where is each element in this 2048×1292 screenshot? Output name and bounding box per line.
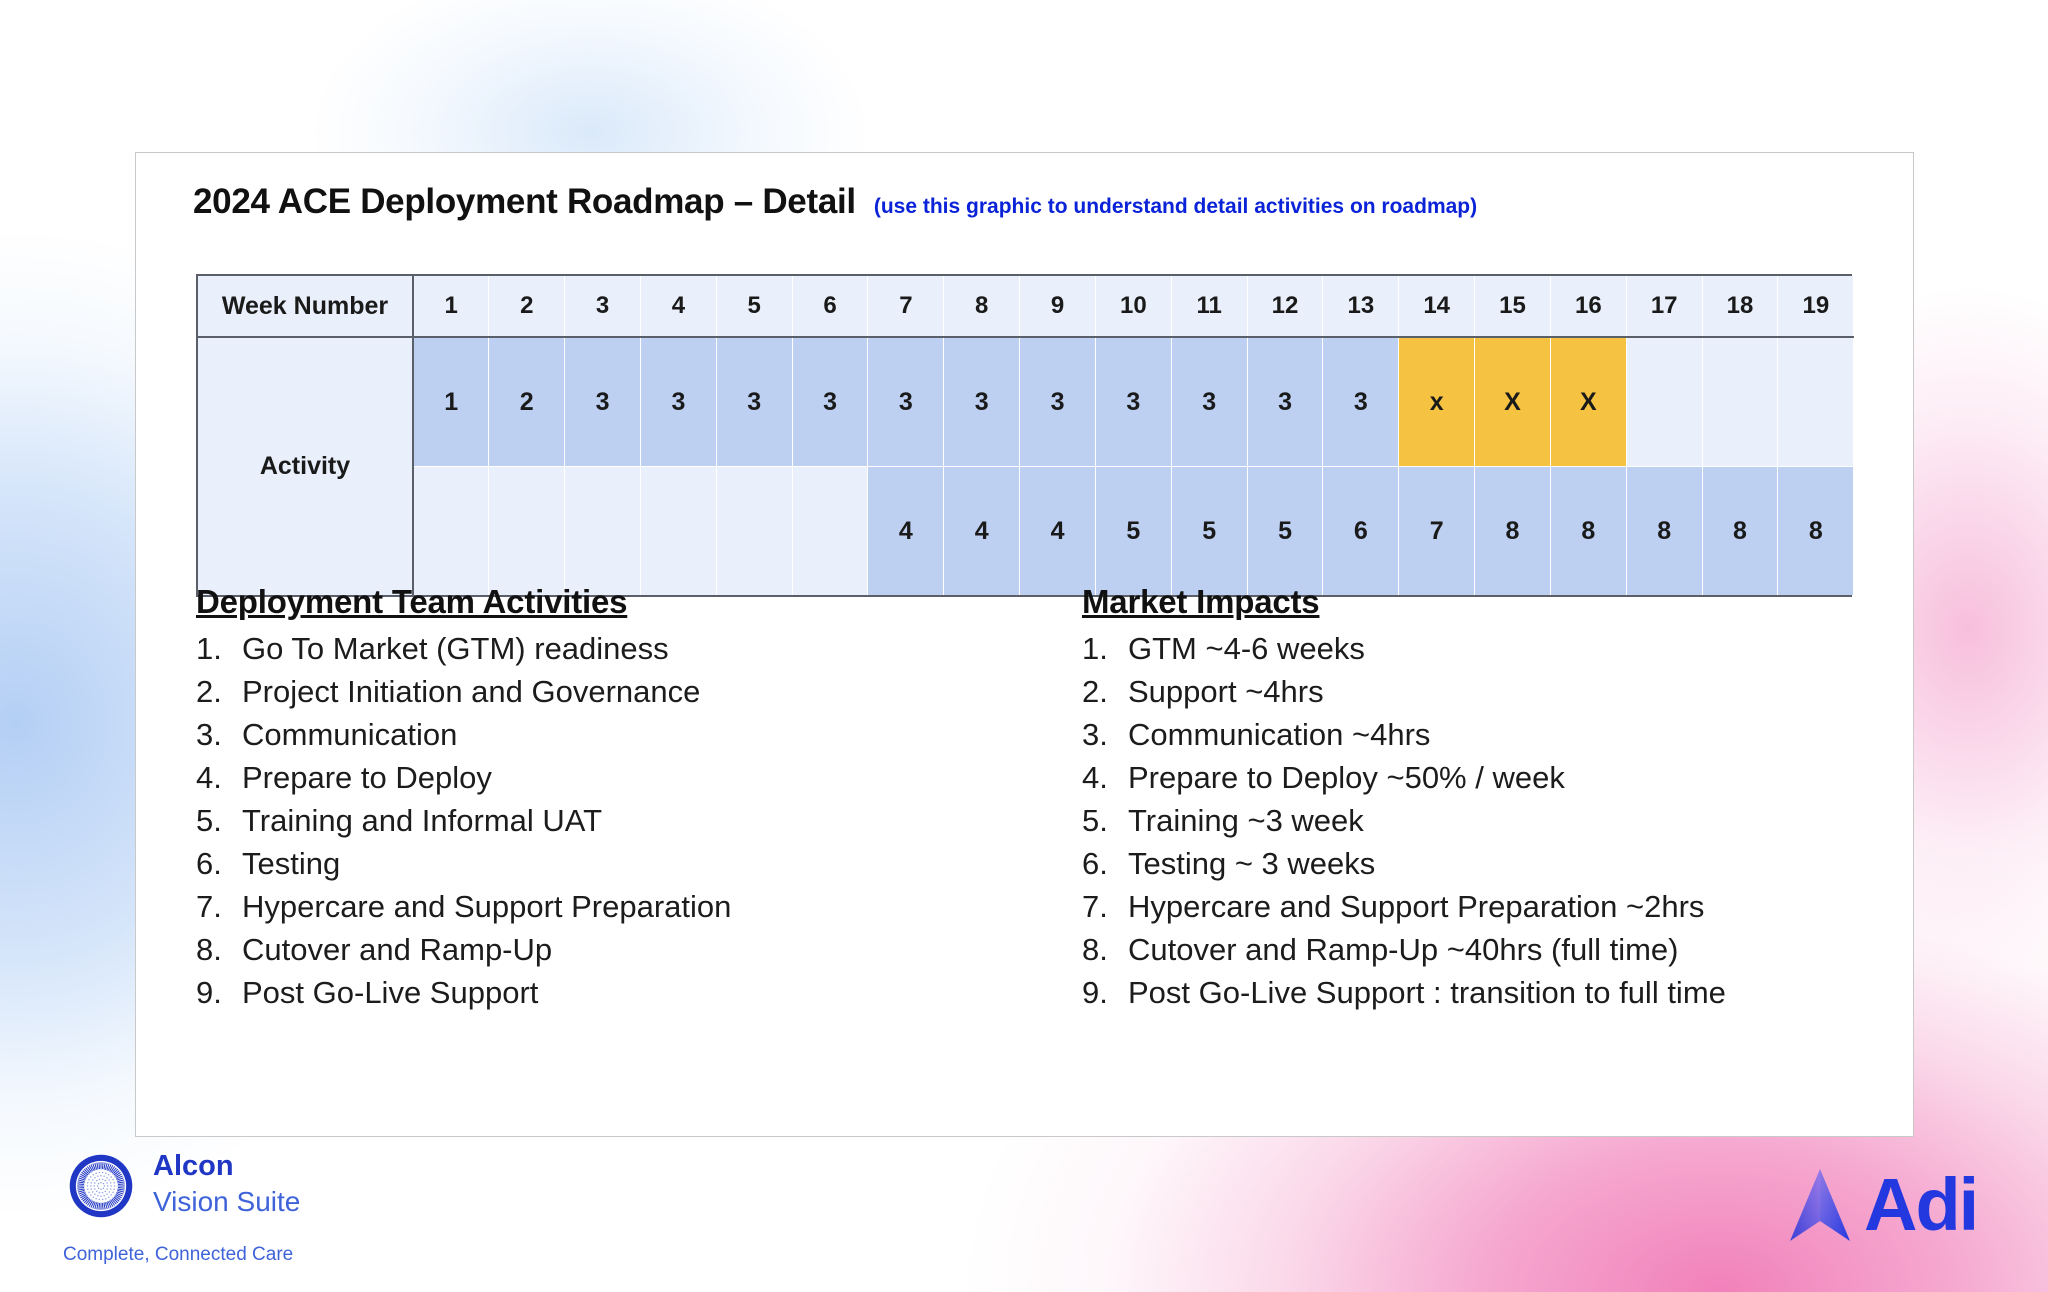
week-activity-table: Week Number 1234567891011121314151617181… <box>198 276 1854 595</box>
week-header-cell: 17 <box>1626 276 1702 337</box>
activity-cell: 3 <box>1171 337 1247 467</box>
week-number-label: Week Number <box>198 276 413 337</box>
market-impacts-item: 2.Support ~4hrs <box>1082 670 1876 713</box>
market-impacts-item-label: Training ~3 week <box>1128 799 1364 842</box>
market-impacts-item: 5.Training ~3 week <box>1082 799 1876 842</box>
activity-cell: 5 <box>1247 467 1323 596</box>
activity-cell <box>489 467 565 596</box>
activity-cell: 3 <box>1323 337 1399 467</box>
market-impacts-item-number: 2. <box>1082 670 1128 713</box>
deployment-team-item-label: Cutover and Ramp-Up <box>242 928 552 971</box>
deployment-team-item-label: Project Initiation and Governance <box>242 670 700 713</box>
deployment-team-column: Deployment Team Activities 1.Go To Marke… <box>196 583 1036 1014</box>
activity-cell: 8 <box>1626 467 1702 596</box>
market-impacts-item: 6.Testing ~ 3 weeks <box>1082 842 1876 885</box>
activity-cell: 3 <box>1247 337 1323 467</box>
activity-cell: 4 <box>944 467 1020 596</box>
activity-cell: x <box>1399 337 1475 467</box>
market-impacts-item-number: 4. <box>1082 756 1128 799</box>
deployment-team-item: 9.Post Go-Live Support <box>196 971 1036 1014</box>
week-header-cell: 16 <box>1550 276 1626 337</box>
activity-cell: 8 <box>1702 467 1778 596</box>
deployment-team-item-number: 2. <box>196 670 242 713</box>
deployment-team-item-number: 4. <box>196 756 242 799</box>
market-impacts-item-number: 7. <box>1082 885 1128 928</box>
market-impacts-item: 1.GTM ~4-6 weeks <box>1082 627 1876 670</box>
adi-wordmark: Adi <box>1864 1168 1977 1242</box>
activity-cell: 8 <box>1550 467 1626 596</box>
week-header-cell: 2 <box>489 276 565 337</box>
deployment-team-item: 7.Hypercare and Support Preparation <box>196 885 1036 928</box>
market-impacts-item-number: 9. <box>1082 971 1128 1014</box>
deployment-team-item: 8.Cutover and Ramp-Up <box>196 928 1036 971</box>
market-impacts-item: 4.Prepare to Deploy ~50% / week <box>1082 756 1876 799</box>
market-impacts-column: Market Impacts 1.GTM ~4-6 weeks2.Support… <box>1036 583 1876 1014</box>
activity-cell: X <box>1475 337 1551 467</box>
activity-cell: 7 <box>1399 467 1475 596</box>
activity-cell: 1 <box>413 337 489 467</box>
deployment-team-item-label: Testing <box>242 842 340 885</box>
deployment-team-item: 6.Testing <box>196 842 1036 885</box>
activity-cell <box>1778 337 1854 467</box>
market-impacts-item-label: Support ~4hrs <box>1128 670 1324 713</box>
week-header-cell: 1 <box>413 276 489 337</box>
activity-cell <box>413 467 489 596</box>
activity-cell: 4 <box>868 467 944 596</box>
market-impacts-item-number: 3. <box>1082 713 1128 756</box>
market-impacts-item-label: Prepare to Deploy ~50% / week <box>1128 756 1565 799</box>
activity-label: Activity <box>198 337 413 595</box>
title-row: 2024 ACE Deployment Roadmap – Detail (us… <box>193 182 1477 222</box>
market-impacts-list: 1.GTM ~4-6 weeks2.Support ~4hrs3.Communi… <box>1082 627 1876 1014</box>
market-impacts-item-number: 8. <box>1082 928 1128 971</box>
activity-row-2: 4445556788888 <box>198 467 1854 596</box>
activity-cell: 8 <box>1778 467 1854 596</box>
deployment-team-item-number: 7. <box>196 885 242 928</box>
week-header-cell: 8 <box>944 276 1020 337</box>
market-impacts-item-label: Testing ~ 3 weeks <box>1128 842 1375 885</box>
activity-cell <box>716 467 792 596</box>
deployment-team-item-number: 1. <box>196 627 242 670</box>
roadmap-table: Week Number 1234567891011121314151617181… <box>196 274 1852 597</box>
week-header-cell: 3 <box>565 276 641 337</box>
deployment-team-item-number: 6. <box>196 842 242 885</box>
deployment-team-item-label: Prepare to Deploy <box>242 756 492 799</box>
deployment-team-item: 3.Communication <box>196 713 1036 756</box>
market-impacts-item-number: 1. <box>1082 627 1128 670</box>
page-title: 2024 ACE Deployment Roadmap – Detail <box>193 182 856 222</box>
deployment-team-item-number: 9. <box>196 971 242 1014</box>
activity-cell: 5 <box>1095 467 1171 596</box>
market-impacts-heading: Market Impacts <box>1082 583 1876 621</box>
week-header-cell: 19 <box>1778 276 1854 337</box>
activity-cell: 6 <box>1323 467 1399 596</box>
lists-section: Deployment Team Activities 1.Go To Marke… <box>196 583 1876 1014</box>
alcon-wordmark: Alcon Vision Suite <box>153 1148 300 1220</box>
activity-cell: X <box>1550 337 1626 467</box>
alcon-logo: Alcon Vision Suite Complete, Connected C… <box>63 1148 383 1278</box>
activity-cell: 3 <box>868 337 944 467</box>
activity-cell <box>792 467 868 596</box>
activity-cell: 3 <box>792 337 868 467</box>
deployment-team-item: 4.Prepare to Deploy <box>196 756 1036 799</box>
alcon-name: Alcon <box>153 1148 300 1184</box>
slide-card: 2024 ACE Deployment Roadmap – Detail (us… <box>135 152 1914 1137</box>
market-impacts-item-label: GTM ~4-6 weeks <box>1128 627 1365 670</box>
market-impacts-item: 9.Post Go-Live Support : transition to f… <box>1082 971 1876 1014</box>
week-header-cell: 4 <box>640 276 716 337</box>
week-header-cell: 15 <box>1475 276 1551 337</box>
deployment-team-item: 2.Project Initiation and Governance <box>196 670 1036 713</box>
activity-cell: 2 <box>489 337 565 467</box>
deployment-team-item: 1.Go To Market (GTM) readiness <box>196 627 1036 670</box>
deployment-team-item: 5.Training and Informal UAT <box>196 799 1036 842</box>
activity-cell: 3 <box>944 337 1020 467</box>
deployment-team-item-label: Hypercare and Support Preparation <box>242 885 731 928</box>
deployment-team-item-number: 3. <box>196 713 242 756</box>
alcon-tagline: Complete, Connected Care <box>63 1244 293 1266</box>
market-impacts-item-label: Cutover and Ramp-Up ~40hrs (full time) <box>1128 928 1678 971</box>
title-note: (use this graphic to understand detail a… <box>874 195 1477 219</box>
week-header-cell: 6 <box>792 276 868 337</box>
week-header-cell: 12 <box>1247 276 1323 337</box>
deployment-team-heading: Deployment Team Activities <box>196 583 1036 621</box>
market-impacts-item: 7.Hypercare and Support Preparation ~2hr… <box>1082 885 1876 928</box>
adi-logo: Adi <box>1782 1157 2012 1253</box>
week-header-cell: 7 <box>868 276 944 337</box>
adi-chevron-icon <box>1782 1163 1858 1247</box>
activity-cell <box>1626 337 1702 467</box>
week-header-cell: 10 <box>1095 276 1171 337</box>
activity-cell: 4 <box>1020 467 1096 596</box>
market-impacts-item: 3.Communication ~4hrs <box>1082 713 1876 756</box>
market-impacts-item-number: 5. <box>1082 799 1128 842</box>
activity-cell: 3 <box>640 337 716 467</box>
week-header-cell: 18 <box>1702 276 1778 337</box>
market-impacts-item-label: Post Go-Live Support : transition to ful… <box>1128 971 1726 1014</box>
activity-cell: 3 <box>1095 337 1171 467</box>
deployment-team-item-label: Training and Informal UAT <box>242 799 602 842</box>
deployment-team-item-label: Communication <box>242 713 457 756</box>
activity-cell: 5 <box>1171 467 1247 596</box>
week-header-cell: 5 <box>716 276 792 337</box>
market-impacts-item-label: Communication ~4hrs <box>1128 713 1430 756</box>
activity-cell <box>640 467 716 596</box>
market-impacts-item-label: Hypercare and Support Preparation ~2hrs <box>1128 885 1704 928</box>
deployment-team-item-number: 5. <box>196 799 242 842</box>
week-header-cell: 11 <box>1171 276 1247 337</box>
week-header-cell: 9 <box>1020 276 1096 337</box>
week-header-cell: 13 <box>1323 276 1399 337</box>
activity-cell: 8 <box>1475 467 1551 596</box>
market-impacts-item: 8.Cutover and Ramp-Up ~40hrs (full time) <box>1082 928 1876 971</box>
week-number-header-row: Week Number 1234567891011121314151617181… <box>198 276 1854 337</box>
activity-cell <box>1702 337 1778 467</box>
deployment-team-item-number: 8. <box>196 928 242 971</box>
deployment-team-list: 1.Go To Market (GTM) readiness2.Project … <box>196 627 1036 1014</box>
activity-cell: 3 <box>565 337 641 467</box>
alcon-sub: Vision Suite <box>153 1184 300 1220</box>
deployment-team-item-label: Post Go-Live Support <box>242 971 538 1014</box>
market-impacts-item-number: 6. <box>1082 842 1128 885</box>
activity-cell: 3 <box>1020 337 1096 467</box>
activity-cell <box>565 467 641 596</box>
activity-cell: 3 <box>716 337 792 467</box>
activity-row-1: Activity 1233333333333xXX <box>198 337 1854 467</box>
alcon-emblem-icon <box>67 1152 135 1220</box>
deployment-team-item-label: Go To Market (GTM) readiness <box>242 627 669 670</box>
week-header-cell: 14 <box>1399 276 1475 337</box>
